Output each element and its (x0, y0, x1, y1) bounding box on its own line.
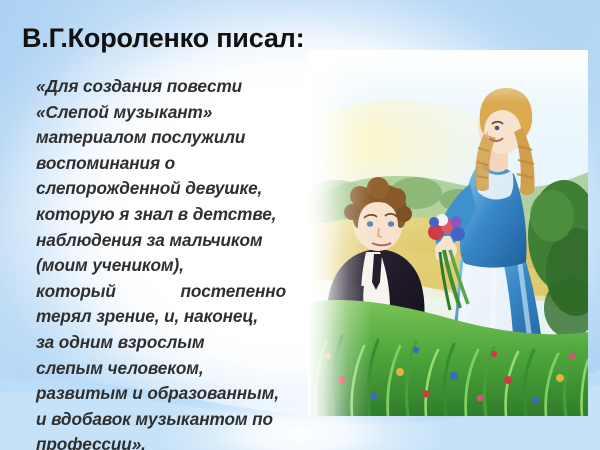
quote-line: за одним взрослым (36, 330, 322, 356)
quote-line: материалом послужили (36, 125, 322, 151)
quote-line: профессии». (36, 432, 322, 450)
quote-line: развитым и образованным, (36, 381, 322, 407)
quote-line: воспоминания о (36, 151, 322, 177)
quote-line-justified: который постепенно (36, 279, 286, 305)
slide-canvas: В.Г.Короленко писал: «Для создания повес… (0, 0, 600, 450)
quote-line: и вдобавок музыкантом по (36, 407, 322, 433)
quote-line: (моим учеником), (36, 253, 322, 279)
quote-line: слепым человеком, (36, 356, 322, 382)
quote-line: «Слепой музыкант» (36, 100, 322, 126)
illustration-artwork (308, 50, 588, 416)
page-title: В.Г.Короленко писал: (22, 24, 442, 54)
quote-line: которую я знал в детстве, (36, 202, 322, 228)
quote-line: слепорожденной девушке, (36, 176, 322, 202)
quote-line: терял зрение, и, наконец, (36, 304, 322, 330)
quote-block: «Для создания повести «Слепой музыкант» … (36, 74, 322, 450)
illustration-photo (308, 50, 588, 416)
quote-word-right: постепенно (181, 279, 287, 305)
quote-line: наблюдения за мальчиком (36, 228, 322, 254)
quote-line: «Для создания повести (36, 74, 322, 100)
quote-word-left: который (36, 279, 116, 305)
